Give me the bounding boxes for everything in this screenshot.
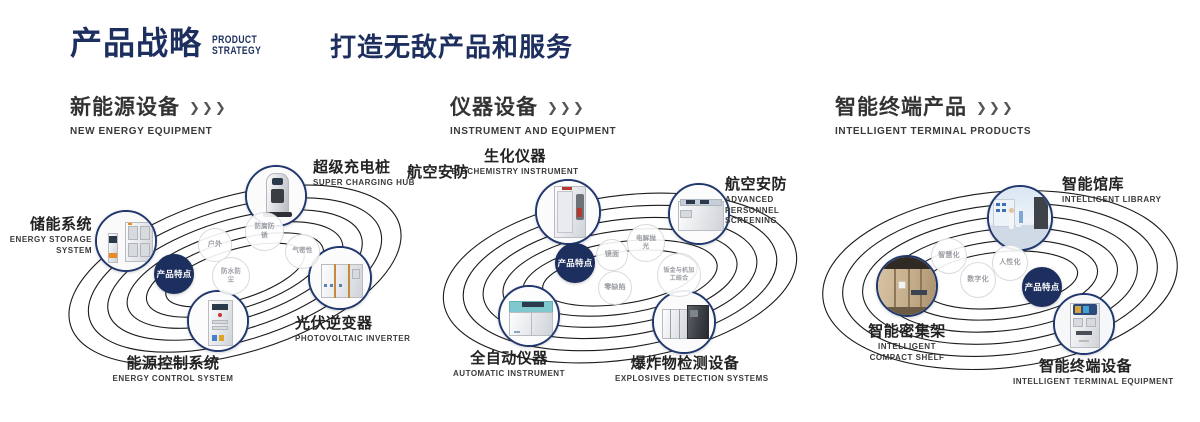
- feature-label: 电解抛光: [635, 235, 657, 252]
- label-cn: 超级充电桩: [313, 159, 415, 176]
- feature-bubble-main: 产品特点: [154, 254, 194, 294]
- page-header: 产品战略 PRODUCT STRATEGY: [70, 27, 275, 59]
- feature-bubble-anticorrosion: 防腐防锈: [245, 212, 284, 251]
- node-energy-control-system[interactable]: [187, 290, 249, 352]
- section-title-intelligent-terminal-en: INTELLIGENT TERMINAL PRODUCTS: [835, 126, 1031, 137]
- feature-bubble-digitalization: 数字化: [960, 262, 996, 298]
- feature-label: 人性化: [999, 259, 1021, 268]
- node-intelligent-compact-shelf[interactable]: [876, 255, 938, 317]
- biochemistry-instrument-photo: [537, 181, 599, 243]
- section-title-instrument-en: INSTRUMENT AND EQUIPMENT: [450, 126, 616, 137]
- label-en: ENERGY STORAGE SYSTEM: [4, 235, 92, 256]
- product-strategy-infographic: 产品战略 PRODUCT STRATEGY 打造无敌产品和服务 新能源设备 ❯❯…: [0, 0, 1200, 422]
- energy-storage-photo: [97, 212, 155, 270]
- label-en: INTELLIGENT LIBRARY: [1062, 195, 1161, 205]
- feature-label: 产品特点: [558, 258, 593, 268]
- intelligent-terminal-equipment-photo: [1055, 295, 1113, 353]
- label-cn: 生化仪器: [450, 148, 580, 165]
- label-super-charging-hub: 超级充电桩 SUPER CHARGING HUB: [313, 159, 415, 189]
- cluster-new-energy: 储能系统 ENERGY STORAGE SYSTEM 超级充电桩 SUPER C…: [40, 150, 430, 400]
- feature-bubble-main: 产品特点: [1022, 267, 1062, 307]
- explosives-detection-photo: [654, 292, 714, 352]
- label-cn: 储能系统: [4, 216, 92, 233]
- feature-label: 零缺陷: [604, 284, 626, 293]
- label-cn: 智能密集架: [832, 323, 982, 340]
- feature-label: 智慧化: [938, 252, 960, 261]
- feature-bubble-waterproof: 防水防尘: [212, 257, 250, 295]
- chevron-right-icon: ❯❯❯: [547, 101, 585, 114]
- feature-bubble-intelligence: 智慧化: [931, 238, 967, 274]
- feature-label: 产品特点: [1025, 282, 1060, 292]
- label-explosives-detection-systems: 爆炸物检测设备 EXPLOSIVES DETECTION SYSTEMS: [615, 355, 755, 385]
- label-cn: 全自动仪器: [434, 350, 584, 367]
- label-en: ENERGY CONTROL SYSTEM: [88, 374, 258, 384]
- feature-bubble-humanization: 人性化: [992, 245, 1028, 281]
- chevron-right-icon: ❯❯❯: [189, 101, 227, 114]
- feature-label: 户外: [208, 241, 222, 250]
- section-title-new-energy: 新能源设备 ❯❯❯ NEW ENERGY EQUIPMENT: [70, 96, 227, 137]
- advanced-personnel-screening-photo: [670, 185, 728, 243]
- feature-bubble-airtightness: 气密性: [285, 234, 320, 269]
- label-en: EXPLOSIVES DETECTION SYSTEMS: [615, 374, 755, 384]
- label-automatic-instrument: 全自动仪器 AUTOMATIC INSTRUMENT: [434, 350, 584, 380]
- feature-label: 镜面: [605, 251, 619, 260]
- page-title-en-line2: STRATEGY: [212, 46, 261, 57]
- feature-bubble-electropolishing: 电解抛光: [627, 224, 665, 262]
- label-energy-storage-system: 储能系统 ENERGY STORAGE SYSTEM: [4, 216, 92, 256]
- label-en: INTELLIGENT TERMINAL EQUIPMENT: [1013, 377, 1158, 387]
- node-biochemistry-instrument[interactable]: [535, 179, 601, 245]
- section-title-instrument-cn: 仪器设备: [450, 96, 538, 119]
- label-cn: 能源控制系统: [88, 355, 258, 372]
- node-explosives-detection-systems[interactable]: [652, 290, 716, 354]
- label-en: INTELLIGENT COMPACT SHELF: [859, 342, 955, 363]
- node-automatic-instrument[interactable]: [498, 285, 560, 347]
- label-cn: 智能终端设备: [1013, 358, 1158, 375]
- section-title-instrument: 仪器设备 ❯❯❯ INSTRUMENT AND EQUIPMENT: [450, 96, 616, 137]
- node-intelligent-terminal-equipment[interactable]: [1053, 293, 1115, 355]
- label-cn: 航空安防: [407, 164, 469, 181]
- page-title-cn: 产品战略: [70, 27, 202, 59]
- feature-label: 防水防尘: [220, 268, 242, 285]
- label-cn: 爆炸物检测设备: [615, 355, 755, 372]
- intelligent-compact-shelf-photo: [878, 257, 936, 315]
- energy-control-system-photo: [189, 292, 247, 350]
- section-title-new-energy-en: NEW ENERGY EQUIPMENT: [70, 126, 227, 137]
- section-title-intelligent-terminal: 智能终端产品 ❯❯❯ INTELLIGENT TERMINAL PRODUCTS: [835, 96, 1031, 137]
- feature-bubble-zero-defect: 零缺陷: [598, 271, 632, 305]
- node-energy-storage-system[interactable]: [95, 210, 157, 272]
- label-cn: 光伏逆变器: [295, 315, 410, 332]
- feature-label: 数字化: [967, 276, 989, 285]
- cluster-instrument: 生化仪器 BIOCHEMISTRY INSTRUMENT 航空安防 航空安防 A…: [420, 150, 820, 400]
- chevron-right-icon: ❯❯❯: [976, 101, 1014, 114]
- label-aviation-security-left: 航空安防: [407, 164, 469, 181]
- feature-label: 气密性: [292, 247, 312, 256]
- page-subtitle: 打造无敌产品和服务: [330, 33, 573, 62]
- intelligent-library-photo: [989, 187, 1051, 249]
- label-en: BIOCHEMISTRY INSTRUMENT: [450, 167, 580, 177]
- feature-bubble-sheetmetal-machining: 钣金与机加工结合: [657, 253, 701, 297]
- section-title-intelligent-terminal-cn: 智能终端产品: [835, 96, 967, 119]
- label-intelligent-library: 智能馆库 INTELLIGENT LIBRARY: [1062, 176, 1161, 206]
- feature-bubble-main: 产品特点: [555, 243, 595, 283]
- label-intelligent-terminal-equipment: 智能终端设备 INTELLIGENT TERMINAL EQUIPMENT: [1013, 358, 1158, 388]
- label-photovoltaic-inverter: 光伏逆变器 PHOTOVOLTAIC INVERTER: [295, 315, 410, 345]
- label-en: AUTOMATIC INSTRUMENT: [434, 369, 584, 379]
- section-title-new-energy-cn: 新能源设备: [70, 96, 180, 119]
- label-biochemistry-instrument: 生化仪器 BIOCHEMISTRY INSTRUMENT: [450, 148, 580, 178]
- feature-label: 产品特点: [157, 269, 192, 279]
- automatic-instrument-photo: [500, 287, 558, 345]
- label-en: SUPER CHARGING HUB: [313, 178, 415, 188]
- page-title-en: PRODUCT STRATEGY: [212, 35, 261, 57]
- label-energy-control-system: 能源控制系统 ENERGY CONTROL SYSTEM: [88, 355, 258, 385]
- node-advanced-personnel-screening[interactable]: [668, 183, 730, 245]
- feature-label: 防腐防锈: [254, 223, 276, 240]
- label-cn: 智能馆库: [1062, 176, 1161, 193]
- feature-bubble-mirror: 镜面: [596, 239, 628, 271]
- feature-label: 钣金与机加工结合: [663, 267, 695, 284]
- label-en: PHOTOVOLTAIC INVERTER: [295, 334, 410, 344]
- label-intelligent-compact-shelf: 智能密集架 INTELLIGENT COMPACT SHELF: [832, 323, 982, 363]
- cluster-intelligent-terminal: 智能馆库 INTELLIGENT LIBRARY 智能终端设备 INTELLIG…: [800, 150, 1200, 400]
- node-intelligent-library[interactable]: [987, 185, 1053, 251]
